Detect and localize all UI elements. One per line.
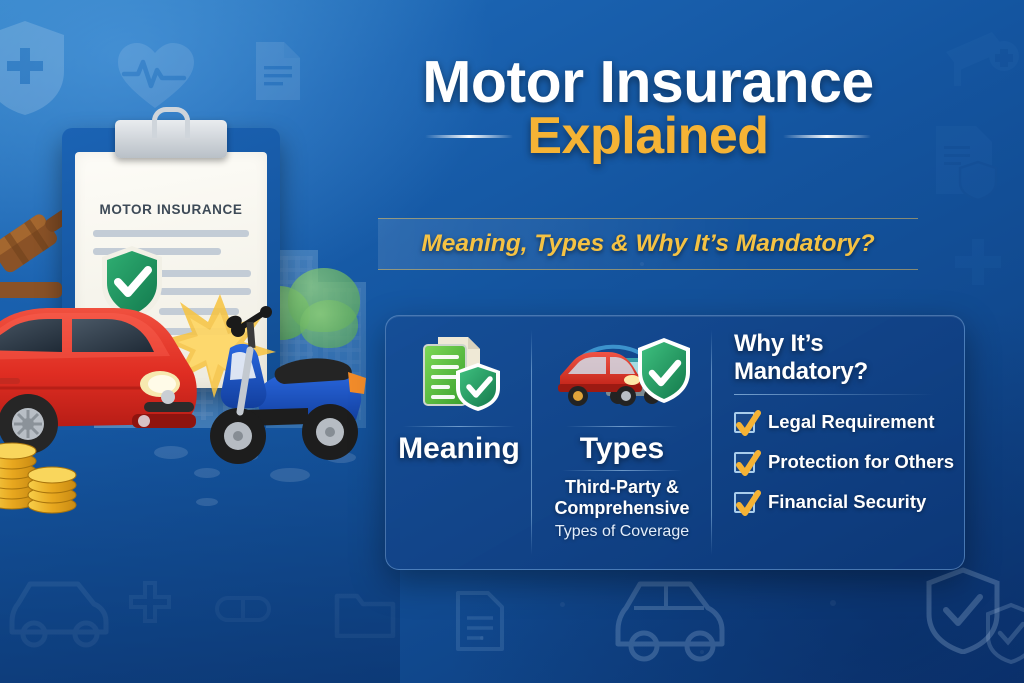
clipboard-clip — [115, 120, 227, 158]
panel-column-why: Why It’s Mandatory? Legal Requirement Pr… — [712, 316, 964, 569]
cctv-camera-watermark-icon — [940, 22, 1024, 92]
title-rule-right — [783, 135, 871, 138]
types-caption: Types of Coverage — [555, 523, 689, 541]
checkbox-protection-for-others[interactable] — [734, 452, 755, 473]
types-icon-box — [552, 330, 692, 422]
infographic-canvas: MOTOR INSURANCE — [0, 0, 1024, 683]
clipboard-title: MOTOR INSURANCE — [75, 202, 267, 217]
types-subdivider — [562, 470, 682, 471]
types-title: Types — [580, 433, 664, 465]
medical-cross-watermark-icon — [952, 236, 1004, 288]
meaning-divider — [403, 426, 515, 427]
checkbox-financial-security[interactable] — [734, 492, 755, 513]
two-cars-shield-icon — [552, 332, 692, 421]
shield-check-watermark-icon — [924, 566, 1002, 654]
types-divider — [566, 426, 678, 427]
checkbox-legal-requirement[interactable] — [734, 412, 755, 433]
page-title-line2: Explained — [527, 110, 768, 162]
main-panel: Meaning — [385, 315, 965, 570]
checklist-item[interactable]: Protection for Others — [734, 451, 954, 473]
blue-scooter-icon — [196, 302, 371, 482]
header: Motor Insurance Explained — [378, 52, 918, 162]
meaning-icon-box — [416, 330, 502, 422]
meaning-title: Meaning — [398, 433, 520, 465]
checklist-item[interactable]: Legal Requirement — [734, 411, 935, 433]
subtitle-bar: Meaning, Types & Why It’s Mandatory? — [378, 218, 918, 270]
car-side-watermark-icon — [608, 568, 732, 666]
checklist-label: Financial Security — [768, 491, 926, 513]
why-divider — [734, 394, 934, 395]
panel-column-types: Types Third-Party & Comprehensive Types … — [532, 316, 712, 569]
policy-shield-watermark-icon — [930, 122, 1006, 200]
types-subtitle: Third-Party & Comprehensive — [542, 477, 702, 519]
small-shield-watermark-icon — [984, 602, 1024, 664]
gold-coin-stack-icon — [0, 405, 85, 515]
panel-column-meaning: Meaning — [386, 316, 532, 569]
why-title: Why It’s Mandatory? — [734, 330, 954, 386]
left-illustration: MOTOR INSURANCE — [0, 0, 400, 683]
checklist-label: Legal Requirement — [768, 411, 935, 433]
checklist-item[interactable]: Financial Security — [734, 491, 926, 513]
page-title-line1: Motor Insurance — [378, 52, 918, 112]
checklist-label: Protection for Others — [768, 451, 954, 473]
document-shield-icon — [416, 333, 502, 420]
title-rule-left — [425, 135, 513, 138]
document-list-watermark-icon — [454, 590, 506, 652]
page-title-line2-row: Explained — [378, 110, 918, 162]
page-subtitle: Meaning, Types & Why It’s Mandatory? — [421, 230, 874, 258]
